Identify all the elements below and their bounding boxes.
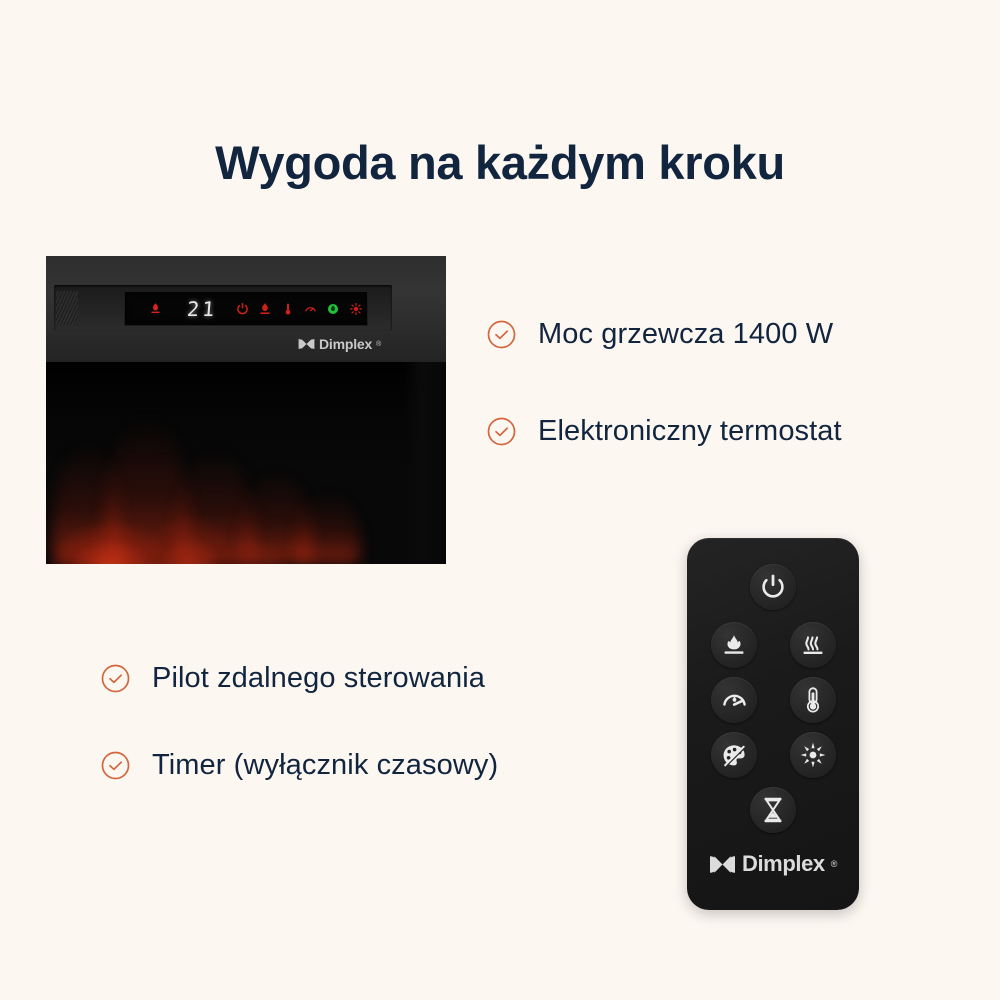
thermostat-button[interactable] [790, 677, 836, 723]
power-icon [231, 303, 254, 315]
brightness-icon [344, 303, 367, 315]
flame-icon [722, 633, 746, 657]
fireplace-brand-name: Dimplex [319, 336, 372, 352]
fireplace-product-image: 21 [46, 256, 446, 564]
firebox-shadow [46, 362, 446, 564]
dimplex-mark-icon [298, 338, 315, 350]
feature-item-thermostat: Elektroniczny termostat [487, 415, 842, 448]
fireplace-trademark: ® [376, 341, 381, 348]
temperature-display: 21 [172, 299, 232, 319]
brightness-button[interactable] [790, 732, 836, 778]
feature-label: Elektroniczny termostat [538, 415, 842, 448]
heat-button[interactable] [790, 622, 836, 668]
vent-grille [56, 291, 78, 325]
check-circle-icon [487, 320, 516, 349]
power-icon [761, 574, 785, 600]
feature-label: Timer (wyłącznik czasowy) [152, 749, 498, 782]
page-title: Wygoda na każdym kroku [0, 135, 1000, 191]
remote-brand-logo: Dimplex ® [687, 851, 859, 877]
fireplace-firebox [46, 362, 446, 564]
fan-speed-icon [299, 303, 322, 314]
firebox-right-edge [404, 362, 446, 564]
check-circle-icon [487, 417, 516, 446]
sun-brightness-icon [800, 742, 826, 768]
feature-item-heating-power: Moc grzewcza 1400 W [487, 318, 833, 351]
flame-speed-button[interactable] [711, 677, 757, 723]
remote-brand-name: Dimplex [742, 851, 825, 877]
thermometer-icon [277, 303, 300, 315]
remote-trademark: ® [831, 859, 837, 869]
feature-label: Pilot zdalnego sterowania [152, 662, 485, 695]
heat-indicator-icon [139, 303, 173, 314]
remote-control-image: Dimplex ® [687, 538, 859, 910]
hourglass-icon [763, 797, 783, 823]
fireplace-brand-logo: Dimplex ® [298, 336, 381, 352]
flame-speed-gauge-icon [722, 688, 747, 713]
check-circle-icon [101, 751, 130, 780]
feature-item-remote-control: Pilot zdalnego sterowania [101, 662, 485, 695]
fireplace-top-bezel: 21 [46, 256, 446, 362]
flame-effect-icon [322, 303, 345, 315]
timer-button[interactable] [750, 787, 796, 833]
feature-item-timer: Timer (wyłącznik czasowy) [101, 749, 498, 782]
promo-page: Wygoda na każdym kroku 21 [0, 0, 1000, 1000]
heat-waves-icon [801, 633, 825, 657]
feature-label: Moc grzewcza 1400 W [538, 318, 833, 351]
flame-effect-button[interactable] [711, 622, 757, 668]
thermometer-icon [805, 687, 821, 713]
fireplace-led-display: 21 [124, 291, 368, 326]
check-circle-icon [101, 664, 130, 693]
palette-icon [722, 743, 747, 768]
power-button[interactable] [750, 564, 796, 610]
flame-color-button[interactable] [711, 732, 757, 778]
heater-icon [254, 303, 277, 315]
dimplex-mark-icon [709, 855, 736, 874]
